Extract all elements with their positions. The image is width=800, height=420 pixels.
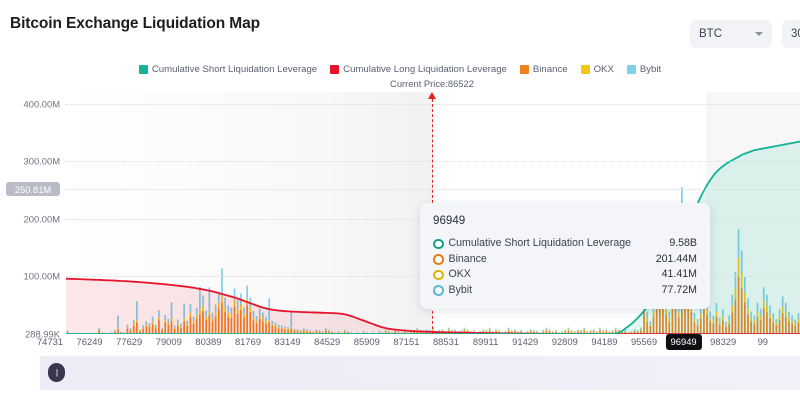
bar-segment <box>426 329 428 330</box>
page-title: Bitcoin Exchange Liquidation Map <box>10 15 260 33</box>
tooltip-series-name: Bybit <box>449 283 473 299</box>
current-price-annotation: Current Price:86522 <box>390 78 474 89</box>
chart-tooltip: 96949 Cumulative Short Liquidation Lever… <box>420 203 710 309</box>
legend-item-label: Cumulative Long Liquidation Leverage <box>343 64 507 75</box>
x-axis-label: 87151 <box>393 336 419 347</box>
range-slider-track[interactable] <box>40 356 800 390</box>
bar-segment <box>605 331 607 332</box>
bar-segment <box>568 328 570 330</box>
tooltip-series-value: 77.72M <box>662 283 697 299</box>
bar-segment <box>615 328 617 330</box>
bar-segment <box>561 331 563 332</box>
bar-segment <box>574 332 576 333</box>
bar-segment <box>533 331 535 332</box>
bar-segment <box>438 330 440 331</box>
legend-item-0[interactable]: Cumulative Short Liquidation Leverage <box>139 64 317 75</box>
legend-swatch-icon <box>581 65 590 74</box>
legend-item-4[interactable]: Bybit <box>627 64 661 75</box>
bar-segment <box>527 332 529 333</box>
chevron-down-icon <box>755 32 763 36</box>
bar-segment <box>564 331 566 332</box>
bar-segment <box>564 329 566 330</box>
x-axis-label: 81769 <box>235 336 261 347</box>
tooltip-series-dot-icon <box>433 254 444 265</box>
bar-segment <box>609 332 611 333</box>
bar-segment <box>599 328 601 330</box>
bar-segment <box>577 331 579 332</box>
bar-segment <box>552 332 554 333</box>
bar-segment <box>593 331 595 332</box>
y-axis-label: 300.00M <box>0 156 60 167</box>
x-axis-label: 76249 <box>77 336 103 347</box>
legend-item-2[interactable]: Binance <box>520 64 568 75</box>
y-axis-label: 200.00M <box>0 213 60 224</box>
x-axis-label: 79009 <box>156 336 182 347</box>
legend-swatch-icon <box>330 65 339 74</box>
x-axis-label: 89911 <box>473 336 498 347</box>
bar-segment <box>514 329 516 330</box>
bar-segment <box>605 329 607 330</box>
legend-item-label: Binance <box>533 64 568 75</box>
range-dropdown-label: 30 <box>791 28 800 40</box>
bar-segment <box>483 329 485 330</box>
tooltip-series-dot-icon <box>433 270 444 281</box>
bar-segment <box>542 330 544 331</box>
header: Bitcoin Exchange Liquidation Map BTC 30 <box>0 0 800 52</box>
bar-segment <box>571 331 573 332</box>
bar-segment <box>470 331 472 332</box>
x-axis-label: 95569 <box>631 336 657 347</box>
bar-segment <box>549 331 551 332</box>
bar-segment <box>442 329 444 330</box>
bar-segment <box>457 331 459 332</box>
bar-segment <box>596 332 598 333</box>
symbol-dropdown-label: BTC <box>699 28 722 40</box>
x-axis-label: 77629 <box>116 336 142 347</box>
bar-segment <box>505 331 507 332</box>
tooltip-series-dot-icon <box>433 285 444 296</box>
tooltip-series-name: Cumulative Short Liquidation Leverage <box>449 236 632 252</box>
bar-segment <box>442 331 444 332</box>
x-axis-label: 80389 <box>195 336 221 347</box>
bar-segment <box>546 329 548 330</box>
bar-segment <box>533 330 535 331</box>
tooltip-series-value: 9.58B <box>669 236 697 252</box>
bar-segment <box>590 330 592 331</box>
tooltip-row: Bybit77.72M <box>433 283 697 299</box>
bar-segment <box>577 329 579 330</box>
x-axis-label: 84529 <box>314 336 340 347</box>
bar-segment <box>473 331 475 332</box>
bar-segment <box>555 331 557 332</box>
bar-segment <box>590 331 592 332</box>
legend-swatch-icon <box>139 65 148 74</box>
bar-segment <box>520 330 522 331</box>
bar-segment <box>460 330 462 331</box>
bar-segment <box>586 331 588 332</box>
bar-segment <box>473 330 475 331</box>
bar-segment <box>460 331 462 332</box>
bar-segment <box>505 332 507 333</box>
bar-segment <box>514 331 516 332</box>
bar-segment <box>416 329 418 330</box>
x-axis-label: 83149 <box>275 336 301 347</box>
gridline <box>66 104 800 105</box>
bar-segment <box>495 329 497 330</box>
bar-segment <box>448 328 450 330</box>
bar-segment <box>467 331 469 332</box>
bar-segment <box>539 332 541 333</box>
legend-item-1[interactable]: Cumulative Long Liquidation Leverage <box>330 64 507 75</box>
bar-segment <box>549 329 551 330</box>
bar-segment <box>602 331 604 332</box>
tooltip-series-value: 201.44M <box>656 252 697 268</box>
bar-segment <box>464 328 466 330</box>
bar-segment <box>495 331 497 332</box>
bar-segment <box>464 329 466 330</box>
bar-segment <box>508 328 510 330</box>
x-axis-label: 92809 <box>552 336 578 347</box>
bar-segment <box>520 331 522 332</box>
legend-item-label: OKX <box>594 64 614 75</box>
y-axis-highlight-label: 250.81M <box>6 182 60 196</box>
x-axis: 7473176249776297900980389817698314984529… <box>0 336 800 354</box>
bar-segment <box>546 328 548 330</box>
x-axis-label: 85909 <box>354 336 380 347</box>
bar-segment <box>451 330 453 331</box>
bar-segment <box>530 329 532 330</box>
bar-segment <box>527 331 529 332</box>
bar-segment <box>612 331 614 332</box>
bar-segment <box>555 330 557 331</box>
tooltip-row: OKX41.41M <box>433 267 697 283</box>
bar-segment <box>454 329 456 330</box>
y-axis-label: 400.00M <box>0 98 60 109</box>
bar-segment <box>511 331 513 332</box>
bar-segment <box>615 329 617 330</box>
tooltip-row: Binance201.44M <box>433 252 697 268</box>
bar-segment <box>612 330 614 331</box>
x-axis-label: 91429 <box>512 336 538 347</box>
tooltip-title: 96949 <box>433 214 697 227</box>
x-axis-label: 94189 <box>591 336 617 347</box>
tooltip-row: Cumulative Short Liquidation Leverage9.5… <box>433 236 697 252</box>
legend-item-label: Cumulative Short Liquidation Leverage <box>152 64 317 75</box>
legend-swatch-icon <box>627 65 636 74</box>
x-axis-selected-label: 96949 <box>666 334 702 350</box>
bar-segment <box>571 330 573 331</box>
x-axis-label: 88531 <box>433 336 459 347</box>
bar-segment <box>486 331 488 332</box>
bar-segment <box>454 331 456 332</box>
range-dropdown[interactable]: 30 <box>782 20 800 48</box>
tooltip-series-dot-icon <box>433 239 444 250</box>
bar-segment <box>536 332 538 333</box>
bar-segment <box>561 332 563 333</box>
gridline <box>66 161 800 162</box>
bar-segment <box>542 331 544 332</box>
bar-segment <box>467 329 469 330</box>
bar-segment <box>479 331 481 332</box>
bar-segment <box>599 329 601 330</box>
bar-segment <box>609 331 611 332</box>
bar-segment <box>483 331 485 332</box>
drag-handle-icon: || <box>55 368 57 377</box>
bar-segment <box>568 329 570 330</box>
bar-segment <box>586 332 588 333</box>
y-axis-label: 100.00M <box>0 271 60 282</box>
bar-segment <box>602 330 604 331</box>
bar-segment <box>508 329 510 330</box>
tooltip-series-name: Binance <box>449 252 487 268</box>
bar-segment <box>580 330 582 331</box>
bar-segment <box>448 329 450 330</box>
bar-segment <box>246 286 248 299</box>
bar-segment <box>517 331 519 332</box>
bar-segment <box>530 331 532 332</box>
x-axis-label: 74731 <box>37 336 63 347</box>
legend-item-3[interactable]: OKX <box>581 64 614 75</box>
symbol-dropdown[interactable]: BTC <box>690 20 772 48</box>
tooltip-rows: Cumulative Short Liquidation Leverage9.5… <box>433 236 697 298</box>
bar-segment <box>416 328 418 330</box>
bar-segment <box>580 331 582 332</box>
gridline <box>66 189 800 190</box>
range-slider-handle[interactable]: || <box>48 363 65 382</box>
bar-segment <box>511 330 513 331</box>
tooltip-series-name: OKX <box>449 267 471 283</box>
bar-segment <box>558 332 560 333</box>
bar-segment <box>498 331 500 332</box>
legend-item-label: Bybit <box>640 64 661 75</box>
bar-segment <box>574 331 576 332</box>
bar-segment <box>489 329 491 330</box>
bar-segment <box>583 328 585 330</box>
x-axis-label: 99 <box>758 336 768 347</box>
legend-swatch-icon <box>520 65 529 74</box>
bar-segment <box>498 330 500 331</box>
bar-segment <box>552 331 554 332</box>
bar-segment <box>618 331 620 332</box>
chart-legend: Cumulative Short Liquidation LeverageCum… <box>0 64 800 75</box>
bar-segment <box>489 328 491 330</box>
bar-segment <box>596 331 598 332</box>
bar-segment <box>583 329 585 330</box>
bar-segment <box>593 329 595 330</box>
x-axis-label: 98329 <box>710 336 736 347</box>
tooltip-series-value: 41.41M <box>662 267 697 283</box>
bar-segment <box>536 331 538 332</box>
bar-segment <box>221 268 223 295</box>
bar-segment <box>492 332 494 333</box>
bar-segment <box>486 330 488 331</box>
bar-segment <box>492 331 494 332</box>
bar-segment <box>618 329 620 330</box>
bar-segment <box>517 332 519 333</box>
